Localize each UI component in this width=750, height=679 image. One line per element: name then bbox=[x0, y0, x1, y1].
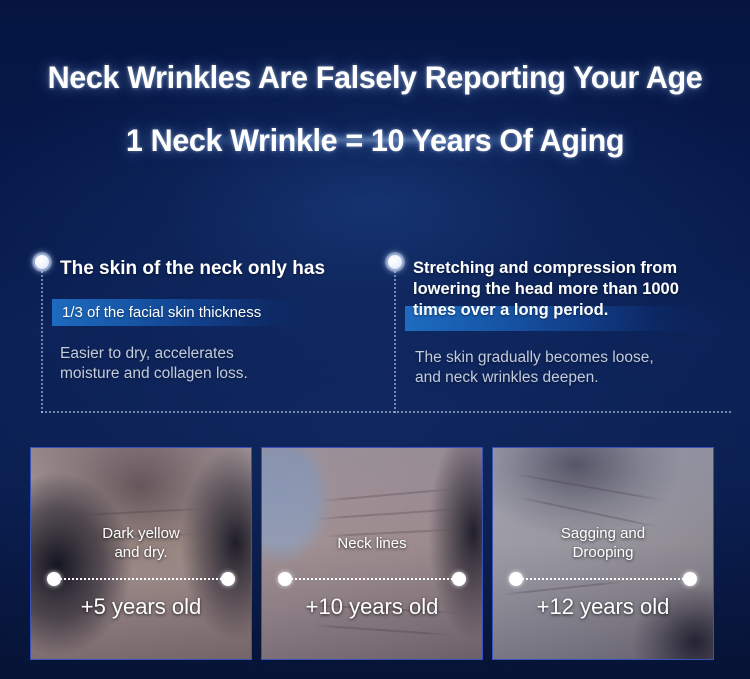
page-title: Neck Wrinkles Are Falsely Reporting Your… bbox=[11, 62, 739, 94]
photo-tint-2 bbox=[262, 448, 482, 659]
info-column-left: The skin of the neck only has bbox=[60, 258, 380, 280]
promo-banner: Neck Wrinkles Are Falsely Reporting Your… bbox=[0, 0, 750, 679]
right-heading: Stretching and compression from lowering… bbox=[413, 258, 723, 321]
frame-bottom-divider bbox=[41, 411, 731, 413]
left-body-line-2: moisture and collagen loss. bbox=[60, 364, 360, 384]
panel-2-label: Neck lines bbox=[262, 534, 482, 553]
right-heading-line-3: times over a long period. bbox=[413, 300, 723, 321]
frame-left-divider bbox=[41, 256, 43, 413]
measure-dotted-line-2 bbox=[287, 578, 457, 580]
left-body-line-1: Easier to dry, accelerates bbox=[60, 344, 360, 364]
right-heading-line-2: lowering the head more than 1000 bbox=[413, 279, 723, 300]
panel-1-label: Dark yellow and dry. bbox=[31, 524, 251, 562]
measure-endpoint-right-1 bbox=[221, 572, 235, 586]
panel-1-label-line-1: Dark yellow bbox=[31, 524, 251, 543]
measure-endpoint-left-2 bbox=[278, 572, 292, 586]
panel-2-measure-line bbox=[278, 572, 466, 586]
panel-2-label-line-1: Neck lines bbox=[262, 534, 482, 553]
panel-3-label-line-1: Sagging and bbox=[493, 524, 713, 543]
measure-endpoint-right-2 bbox=[452, 572, 466, 586]
panel-1-measure-line bbox=[47, 572, 235, 586]
panel-3-label-line-2: Drooping bbox=[493, 543, 713, 562]
measure-endpoint-left-1 bbox=[47, 572, 61, 586]
measure-dotted-line-1 bbox=[56, 578, 226, 580]
comparison-panels: Dark yellow and dry. +5 years old bbox=[30, 447, 714, 660]
panel-1-label-line-2: and dry. bbox=[31, 543, 251, 562]
panel-2-age: +10 years old bbox=[262, 594, 482, 620]
page-subtitle: 1 Neck Wrinkle = 10 Years Of Aging bbox=[11, 125, 739, 157]
panel-3-label: Sagging and Drooping bbox=[493, 524, 713, 562]
right-heading-line-1: Stretching and compression from bbox=[413, 258, 723, 279]
right-body-text: The skin gradually becomes loose, and ne… bbox=[415, 348, 715, 388]
left-heading: The skin of the neck only has bbox=[60, 258, 380, 280]
right-body-line-2: and neck wrinkles deepen. bbox=[415, 368, 715, 388]
right-body-line-1: The skin gradually becomes loose, bbox=[415, 348, 715, 368]
comparison-panel-1[interactable]: Dark yellow and dry. +5 years old bbox=[30, 447, 252, 660]
panel-3-measure-line bbox=[509, 572, 697, 586]
comparison-panel-2[interactable]: Neck lines +10 years old bbox=[261, 447, 483, 660]
left-highlight-text: 1/3 of the facial skin thickness bbox=[62, 302, 261, 323]
measure-dotted-line-3 bbox=[518, 578, 688, 580]
left-body-text: Easier to dry, accelerates moisture and … bbox=[60, 344, 360, 384]
measure-endpoint-right-3 bbox=[683, 572, 697, 586]
measure-endpoint-left-3 bbox=[509, 572, 523, 586]
comparison-panel-3[interactable]: Sagging and Drooping +12 years old bbox=[492, 447, 714, 660]
bullet-marker-icon-left bbox=[33, 253, 51, 271]
title-block: Neck Wrinkles Are Falsely Reporting Your… bbox=[0, 62, 750, 156]
frame-middle-divider bbox=[394, 256, 396, 413]
panel-3-age: +12 years old bbox=[493, 594, 713, 620]
info-column-right: Stretching and compression from lowering… bbox=[413, 258, 723, 321]
panel-1-age: +5 years old bbox=[31, 594, 251, 620]
bullet-marker-icon-right bbox=[386, 253, 404, 271]
